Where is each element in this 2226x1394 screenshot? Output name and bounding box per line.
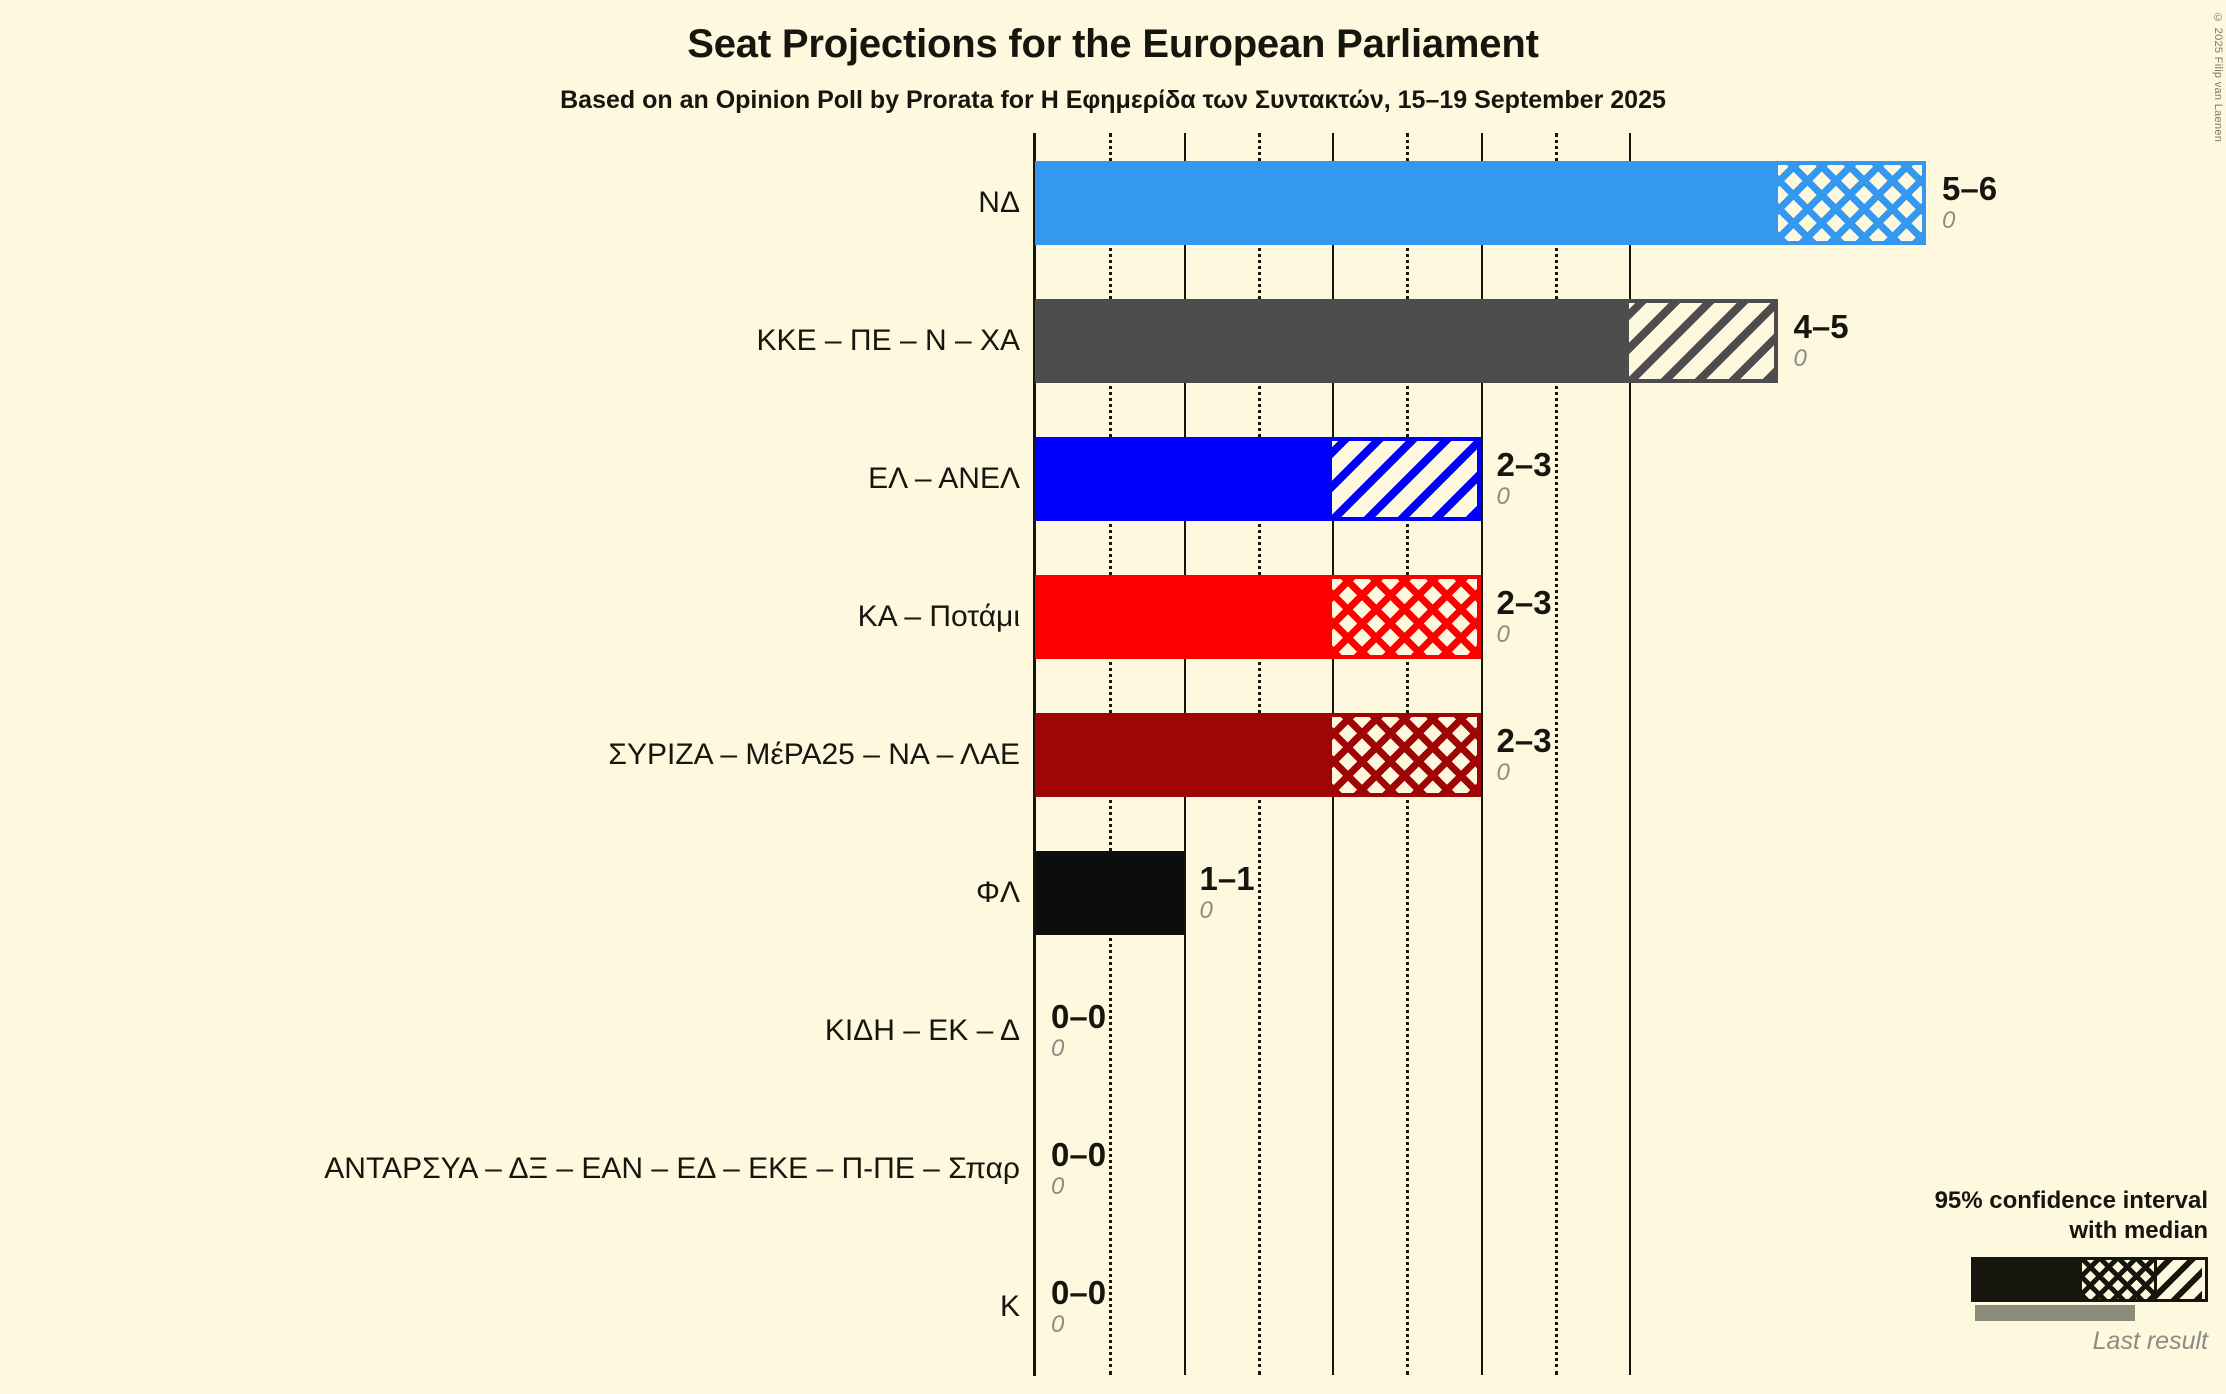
bar-row-label: Κ: [1000, 1290, 1020, 1324]
bar-row: ΕΛ – ΑΝΕΛ2–30: [0, 409, 2226, 549]
bar-row-label: ΦΛ: [976, 876, 1020, 910]
bar-last-result: 0: [1794, 346, 1849, 372]
bar-last-result: 0: [1497, 484, 1552, 510]
bar-value-range: 0–0: [1051, 1000, 1106, 1034]
bar-row-label: ΚΑ – Ποτάμι: [858, 600, 1020, 634]
bar-value-range: 5–6: [1942, 172, 1997, 206]
bar-median-segment: [1035, 437, 1332, 521]
bar-value-block: 2–30: [1497, 724, 1552, 786]
bar-row-label: ΚΚΕ – ΠΕ – Ν – ΧΑ: [757, 324, 1020, 358]
bar-value-block: 1–10: [1200, 862, 1255, 924]
bar-value-block: 5–60: [1942, 172, 1997, 234]
bar-interval-segment: [1629, 299, 1778, 383]
bar-value-range: 0–0: [1051, 1138, 1106, 1172]
bar-value-range: 1–1: [1200, 862, 1255, 896]
bar-row: ΚΙΔΗ – ΕΚ – Δ0–00: [0, 961, 2226, 1101]
bar: [1035, 851, 1184, 935]
bar-row: ΚΑ – Ποτάμι2–30: [0, 547, 2226, 687]
bar-row-label: ΕΛ – ΑΝΕΛ: [868, 462, 1020, 496]
bar-value-block: 0–00: [1051, 1000, 1106, 1062]
bar-median-segment: [1035, 851, 1184, 935]
bar-value-range: 2–3: [1497, 586, 1552, 620]
legend-segment-diagonal: [2157, 1260, 2202, 1299]
bar-value-block: 2–30: [1497, 448, 1552, 510]
bar-row: ΚΚΕ – ΠΕ – Ν – ΧΑ4–50: [0, 271, 2226, 411]
chart-legend: 95% confidence interval with median Last…: [1863, 1186, 2208, 1356]
bar-value-block: 2–30: [1497, 586, 1552, 648]
bar: [1035, 713, 1481, 797]
bar-last-result: 0: [1051, 1036, 1106, 1062]
bar-median-segment: [1035, 161, 1778, 245]
legend-last-result-label: Last result: [1863, 1327, 2208, 1356]
legend-caption: 95% confidence interval with median: [1863, 1186, 2208, 1245]
bar-row: ΦΛ1–10: [0, 823, 2226, 963]
bar-last-result: 0: [1200, 898, 1255, 924]
bar-value-range: 4–5: [1794, 310, 1849, 344]
bar-median-segment: [1035, 299, 1629, 383]
bar-interval-segment: [1332, 713, 1481, 797]
bar-value-block: 0–00: [1051, 1138, 1106, 1200]
bar: [1035, 299, 1778, 383]
bar-value-range: 2–3: [1497, 724, 1552, 758]
legend-caption-line1: 95% confidence interval: [1935, 1187, 2208, 1214]
bar-last-result: 0: [1497, 622, 1552, 648]
bar-interval-segment: [1332, 575, 1481, 659]
bar: [1035, 575, 1481, 659]
bar-last-result: 0: [1497, 760, 1552, 786]
bar: [1035, 437, 1481, 521]
bar-row-label: ΚΙΔΗ – ΕΚ – Δ: [825, 1014, 1020, 1048]
bar-value-block: 0–00: [1051, 1276, 1106, 1338]
bar-row-label: ΑΝΤΑΡΣΥΑ – ΔΞ – ΕΑΝ – ΕΔ – ΕΚΕ – Π-ΠΕ – …: [324, 1152, 1020, 1186]
bar-last-result: 0: [1942, 208, 1997, 234]
bar-value-block: 4–50: [1794, 310, 1849, 372]
bar-value-range: 0–0: [1051, 1276, 1106, 1310]
bar-interval-segment: [1332, 437, 1481, 521]
bar-median-segment: [1035, 713, 1332, 797]
bar-last-result: 0: [1051, 1174, 1106, 1200]
bar-median-segment: [1035, 575, 1332, 659]
bar-row-label: ΣΥΡΙΖΑ – ΜέΡΑ25 – ΝΑ – ΛΑΕ: [608, 738, 1020, 772]
legend-segment-median: [1974, 1260, 2082, 1299]
bar-row-label: ΝΔ: [978, 186, 1020, 220]
legend-caption-line2: with median: [1863, 1216, 2208, 1245]
bar-row: ΣΥΡΙΖΑ – ΜέΡΑ25 – ΝΑ – ΛΑΕ2–30: [0, 685, 2226, 825]
legend-sample-bar: [1971, 1257, 2208, 1302]
bar-interval-segment: [1778, 161, 1927, 245]
bar-row: ΝΔ5–60: [0, 133, 2226, 273]
bar: [1035, 161, 1926, 245]
bar-last-result: 0: [1051, 1312, 1106, 1338]
legend-segment-crosshatch: [2082, 1260, 2157, 1299]
legend-last-result-bar: [1975, 1305, 2135, 1321]
chart-plot-area: ΝΔ5–60ΚΚΕ – ΠΕ – Ν – ΧΑ4–50ΕΛ – ΑΝΕΛ2–30…: [0, 0, 2226, 1394]
bar-value-range: 2–3: [1497, 448, 1552, 482]
